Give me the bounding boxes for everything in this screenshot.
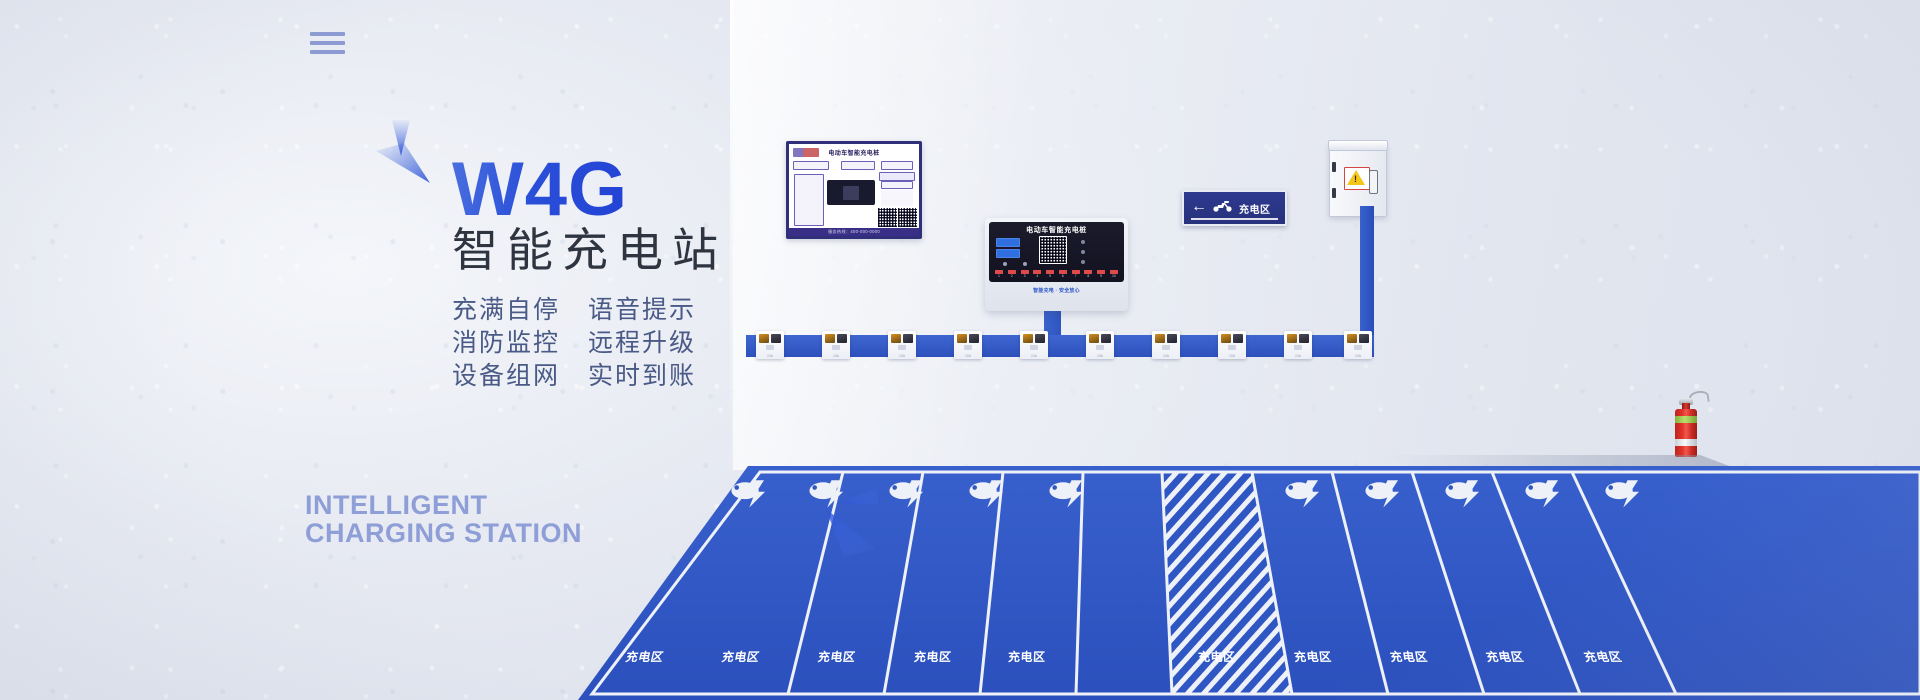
feature-list: 充满自停 语音提示 消防监控 远程升级 设备组网 实时到账 — [452, 293, 698, 392]
banner-stage: 电动车智能充电桩 服务热线：400-000-0000 电动车 — [0, 0, 1920, 700]
pile-knob-left[interactable] — [1003, 262, 1007, 266]
english-line-1: INTELLIGENT — [305, 492, 582, 518]
direction-sign-label: 充电区 — [1239, 201, 1271, 216]
feature-item: 设备组网 — [452, 359, 562, 392]
bay-label: 充电区 — [1008, 648, 1046, 665]
english-line-2: CHARGING STATION — [305, 520, 582, 546]
pile-brand-text: 智能充电 · 安全放心 — [1033, 287, 1080, 294]
poster-qr-code-1[interactable] — [877, 207, 898, 228]
high-voltage-warning-icon — [1347, 170, 1365, 185]
direction-sign[interactable]: ← 充电区 — [1182, 190, 1287, 226]
arrow-triangle-top-large — [376, 143, 430, 183]
feature-item: 语音提示 — [588, 293, 698, 326]
pile-icon-power — [1081, 240, 1085, 244]
poster-section-1 — [793, 161, 829, 170]
pile-display-2 — [996, 249, 1020, 258]
pile-port-row: 1 2 3 4 5 6 7 8 9 10 — [995, 270, 1118, 279]
left-arrow-icon: ← — [1191, 199, 1207, 215]
bay-label: 充电区 — [817, 648, 857, 665]
bay-label: 充电区 — [1293, 648, 1332, 665]
wall-socket[interactable]: 10A — [822, 331, 850, 359]
pile-qr-code[interactable] — [1039, 236, 1067, 264]
bay-label: 充电区 — [913, 648, 952, 665]
poster-section-3 — [881, 161, 913, 170]
pile-icon-billing — [1081, 250, 1085, 254]
direction-sign-underline — [1191, 218, 1278, 220]
poster-footer-text: 服务热线：400-000-0000 — [789, 228, 919, 236]
feature-item: 实时到账 — [588, 359, 698, 392]
cabinet-handle[interactable] — [1369, 170, 1378, 194]
wall-socket-rail: 10A 10A 10A 10A 10A 10A 10A 10A 10A 10A — [746, 335, 1374, 357]
bay-label: 充电区 — [720, 648, 761, 665]
pile-port[interactable]: 6 — [1059, 270, 1067, 279]
feature-row: 设备组网 实时到账 — [452, 359, 698, 392]
charging-station-illustration: 电动车智能充电桩 服务热线：400-000-0000 电动车 — [700, 0, 1920, 700]
wall-socket[interactable]: 10A — [1086, 331, 1114, 359]
pile-port[interactable]: 2 — [1008, 270, 1016, 279]
poster-device-image — [827, 180, 875, 205]
poster-section-2 — [841, 161, 875, 170]
cabinet-hinge-lower — [1332, 188, 1336, 198]
wall-socket[interactable]: 10A — [1344, 331, 1372, 359]
smart-charging-pile[interactable]: 电动车智能充电桩 1 2 3 4 5 6 7 8 9 — [985, 218, 1128, 311]
arrow-triangle-bottom-small — [840, 487, 878, 507]
poster-note-body — [881, 190, 913, 206]
poster-qr-code-2[interactable] — [897, 207, 918, 228]
wall-socket[interactable]: 10A — [1284, 331, 1312, 359]
hamburger-bar — [310, 32, 345, 36]
poster-title: 电动车智能充电桩 — [789, 148, 919, 157]
fire-extinguisher — [1675, 395, 1697, 457]
feature-item: 充满自停 — [452, 293, 562, 326]
pile-port[interactable]: 7 — [1072, 270, 1080, 279]
wall-socket[interactable]: 10A — [1152, 331, 1180, 359]
scooter-icon — [1212, 199, 1234, 217]
poster-footer: 服务热线：400-000-0000 — [789, 228, 919, 236]
pile-port[interactable]: 10 — [1110, 270, 1118, 279]
electrical-cabinet[interactable] — [1329, 143, 1387, 217]
pile-port[interactable]: 1 — [995, 270, 1003, 279]
pile-icon-alarm — [1081, 260, 1085, 264]
wall-socket[interactable]: 10A — [888, 331, 916, 359]
wall-socket[interactable]: 10A — [756, 331, 784, 359]
feature-row: 消防监控 远程升级 — [452, 326, 698, 359]
feature-item: 远程升级 — [588, 326, 698, 359]
wall-socket[interactable]: 10A — [1218, 331, 1246, 359]
wall-socket[interactable]: 10A — [1020, 331, 1048, 359]
wall-poster[interactable]: 电动车智能充电桩 服务热线：400-000-0000 — [786, 141, 922, 239]
pile-display-1 — [996, 238, 1020, 247]
cabinet-top — [1328, 140, 1388, 151]
wall-corner-edge — [730, 0, 733, 470]
pile-knob-right[interactable] — [1023, 262, 1027, 266]
english-tagline: INTELLIGENT CHARGING STATION — [305, 492, 582, 548]
extinguisher-body — [1675, 409, 1697, 457]
feature-item: 消防监控 — [452, 326, 562, 359]
rail-riser — [1360, 206, 1374, 337]
cabinet-hinge-upper — [1332, 162, 1336, 172]
extinguisher-band-green — [1675, 416, 1697, 423]
pile-port[interactable]: 9 — [1097, 270, 1105, 279]
pile-port[interactable]: 3 — [1021, 270, 1029, 279]
bay-label: 充电区 — [1389, 648, 1429, 665]
pile-front-panel: 电动车智能充电桩 1 2 3 4 5 6 7 8 9 — [989, 222, 1124, 282]
poster-section-4 — [881, 181, 913, 189]
bay-label: 充电区 — [1582, 648, 1624, 665]
bay-label: 充电区 — [1198, 648, 1236, 665]
hamburger-bar — [310, 50, 345, 54]
hamburger-bar — [310, 41, 345, 45]
poster-flow-left — [794, 174, 824, 226]
arrow-triangle-bottom-large — [826, 509, 876, 557]
poster-note-line — [879, 172, 915, 181]
pile-port[interactable]: 8 — [1084, 270, 1092, 279]
pile-brand-strip: 智能充电 · 安全放心 — [989, 282, 1124, 299]
wall-socket[interactable]: 10A — [954, 331, 982, 359]
page-subtitle: 智能充电站 — [452, 214, 727, 280]
bay-label: 充电区 — [1484, 648, 1525, 665]
pile-title: 电动车智能充电桩 — [989, 225, 1124, 235]
pile-port[interactable]: 4 — [1033, 270, 1041, 279]
bay-label: 充电区 — [624, 648, 665, 665]
feature-row: 充满自停 语音提示 — [452, 293, 698, 326]
hamburger-icon[interactable] — [310, 32, 345, 54]
pile-port[interactable]: 5 — [1046, 270, 1054, 279]
extinguisher-band-white — [1675, 439, 1697, 446]
